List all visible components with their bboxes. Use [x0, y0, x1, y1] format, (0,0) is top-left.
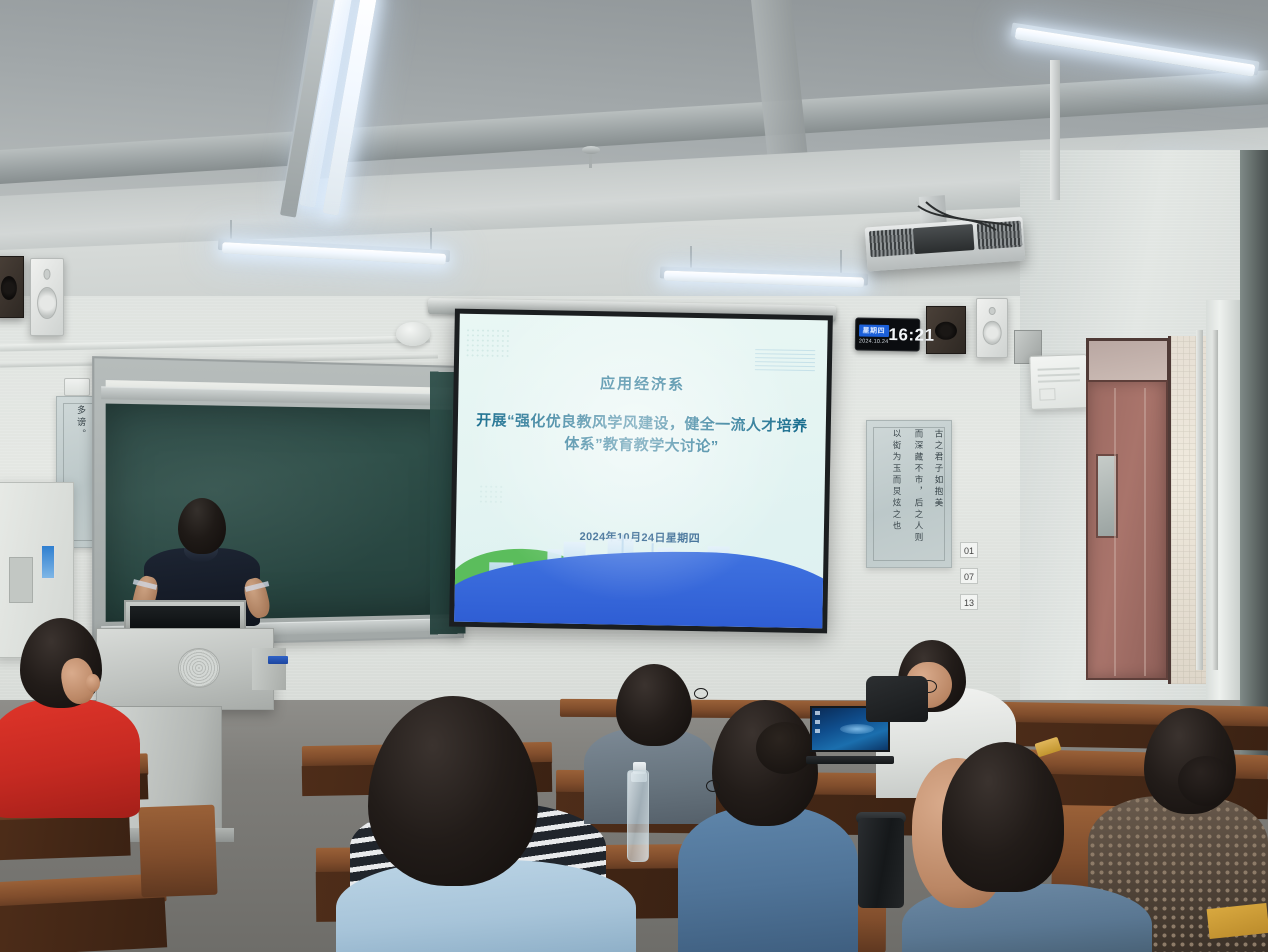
slide-skyline-graphic [454, 526, 824, 629]
wall-number-sign-13: 13 [960, 594, 978, 610]
lectern-blue-item [268, 656, 288, 664]
clock-weekday: 星期四 [859, 324, 889, 337]
presentation-slide: 应用经济系 开展“强化优良教风学风建设，健全一流人才培养体系”教育教学大讨论” … [454, 314, 828, 629]
sprinkler-stem [589, 154, 592, 168]
classroom-door[interactable] [1086, 380, 1168, 680]
audience-patterned-hair-bun [1178, 756, 1234, 806]
audience-grey-glasses [694, 688, 708, 699]
air-conditioner-unit [1029, 354, 1089, 410]
laptop-desktop-icons [815, 711, 820, 738]
ceiling-dome-light [396, 322, 430, 346]
poster-right-line2: 而深藏不市，后之人则 [912, 429, 923, 544]
laptop-wallpaper-highlight [840, 724, 874, 734]
water-bottle [627, 770, 649, 862]
poster-left-line3: 多谤。 [74, 405, 85, 441]
digital-wall-clock: 星期四 2024.10.24 16:21 [855, 317, 921, 351]
audience-red-ear [86, 674, 100, 692]
desk-row-left-lower-side [0, 897, 167, 952]
power-outlet-left[interactable] [64, 378, 90, 396]
wall-number-sign-07: 07 [960, 568, 978, 584]
projector-cables [900, 200, 1100, 270]
laptop-bag [866, 676, 928, 722]
clock-time: 16:21 [888, 325, 934, 346]
clock-date: 2024.10.24 [859, 338, 889, 345]
wall-speaker-white-right [976, 298, 1008, 358]
laptop-base [806, 756, 894, 764]
ac-logo [1039, 388, 1055, 401]
audience-blue-glasses [706, 780, 720, 792]
cabinet-label [41, 545, 55, 579]
lectern-speaker-vent [178, 648, 220, 688]
cabinet-panel [9, 557, 33, 603]
slide-title: 开展“强化优良教风学风建设，健全一流人才培养体系”教育教学大讨论” [473, 410, 810, 460]
poster-right-line3: 以衒为玉而炅炫之也 [890, 429, 901, 533]
audience-profile-hair [942, 742, 1064, 892]
lectern-side-shelf [252, 648, 286, 690]
wall-speaker-dark-left [0, 256, 24, 318]
projection-screen: 应用经济系 开展“强化优良教风学风建设，健全一流人才培养体系”教育教学大讨论” … [449, 309, 833, 634]
presenter-head [178, 498, 226, 554]
door-transom-window [1086, 338, 1170, 386]
classroom-scene: 在上位则多誉；小人在 于位则多誉，在上位则 多谤。 古之君子如抱美 而深藏不市，… [0, 0, 1268, 952]
window-curtain [1240, 150, 1268, 770]
conduit-pipe-2 [1212, 330, 1218, 670]
audience-blue-torso [678, 806, 858, 952]
wall-number-sign-01: 01 [960, 542, 978, 558]
sprinkler-head [582, 146, 600, 154]
slide-department: 应用经济系 [458, 370, 826, 398]
wall-poster-right: 古之君子如抱美 而深藏不市，后之人则 以衒为玉而炅炫之也 [866, 420, 952, 568]
conduit-pipe-1 [1196, 330, 1203, 670]
travel-mug [858, 818, 904, 908]
wall-speaker-white-left [30, 258, 64, 336]
poster-right-line1: 古之君子如抱美 [932, 429, 943, 510]
projector-pole [1050, 60, 1060, 200]
open-doorway [1168, 336, 1210, 684]
desk-row-front-left-side [0, 816, 131, 861]
chair-back-left-1 [138, 805, 217, 898]
audience-red-torso [0, 698, 140, 818]
desk-paper-right [1207, 903, 1268, 939]
